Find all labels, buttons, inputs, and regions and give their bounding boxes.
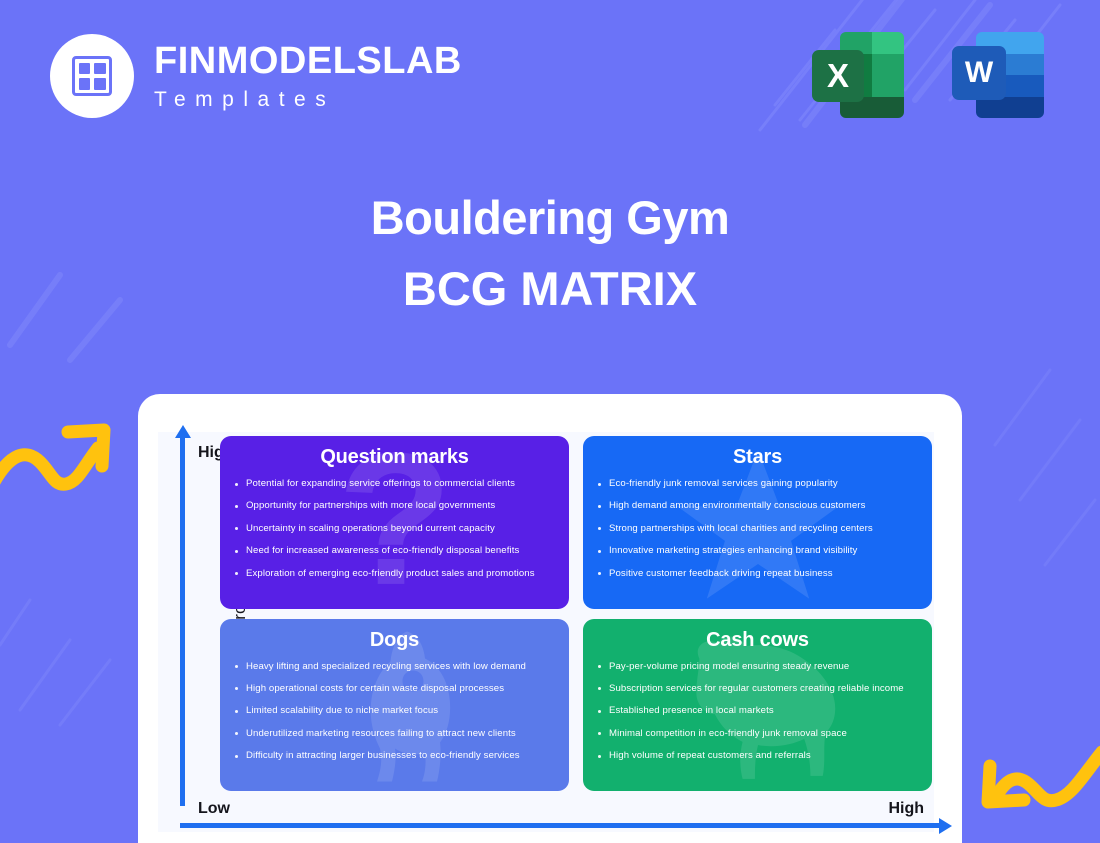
- quadrant-bullet-list: Heavy lifting and specialized recycling …: [234, 661, 555, 763]
- quadrant-title: Cash cows: [597, 629, 918, 652]
- list-item: Opportunity for partnerships with more l…: [234, 500, 555, 512]
- brand-name: FINMODELSLAB: [154, 42, 462, 80]
- bcg-matrix-card: High Low Market growth Market share High…: [138, 394, 962, 843]
- list-item: High demand among environmentally consci…: [597, 500, 918, 512]
- page-title-block: Bouldering Gym BCG MATRIX: [0, 190, 1100, 317]
- file-format-badges: X W: [808, 26, 1048, 122]
- list-item: Positive customer feedback driving repea…: [597, 568, 918, 580]
- word-file-icon[interactable]: W: [952, 26, 1048, 122]
- brand-logo: FINMODELSLAB Templates: [50, 34, 462, 118]
- y-axis-low-label: Low: [198, 800, 230, 818]
- list-item: Minimal competition in eco-friendly junk…: [597, 728, 918, 740]
- quadrant-bullet-list: Potential for expanding service offering…: [234, 478, 555, 580]
- quadrant-title: Question marks: [234, 446, 555, 469]
- page-title: Bouldering Gym: [0, 190, 1100, 245]
- list-item: Heavy lifting and specialized recycling …: [234, 661, 555, 673]
- word-letter: W: [952, 46, 1006, 100]
- quadrant-title: Dogs: [234, 629, 555, 652]
- grid-squares-icon: [50, 34, 134, 118]
- excel-letter: X: [812, 50, 864, 102]
- brand-subtitle: Templates: [154, 89, 462, 110]
- quadrant-title: Stars: [597, 446, 918, 469]
- list-item: Eco-friendly junk removal services gaini…: [597, 478, 918, 490]
- list-item: High volume of repeat customers and refe…: [597, 750, 918, 762]
- quadrant-bullet-list: Eco-friendly junk removal services gaini…: [597, 478, 918, 580]
- x-axis-high-label: High: [888, 800, 924, 818]
- list-item: Uncertainty in scaling operations beyond…: [234, 523, 555, 535]
- quadrant-bullet-list: Pay-per-volume pricing model ensuring st…: [597, 661, 918, 763]
- list-item: High operational costs for certain waste…: [234, 683, 555, 695]
- list-item: Need for increased awareness of eco-frie…: [234, 545, 555, 557]
- y-axis: [180, 436, 185, 806]
- list-item: Established presence in local markets: [597, 705, 918, 717]
- list-item: Strong partnerships with local charities…: [597, 523, 918, 535]
- x-axis: [180, 823, 940, 828]
- squiggle-arrow-down-left-icon: [976, 738, 1100, 830]
- list-item: Limited scalability due to niche market …: [234, 705, 555, 717]
- excel-file-icon[interactable]: X: [808, 26, 904, 122]
- list-item: Difficulty in attracting larger business…: [234, 750, 555, 762]
- list-item: Subscription services for regular custom…: [597, 683, 918, 695]
- list-item: Underutilized marketing resources failin…: [234, 728, 555, 740]
- quadrant-grid: ? Question marks Potential for expanding…: [220, 436, 932, 791]
- list-item: Innovative marketing strategies enhancin…: [597, 545, 918, 557]
- page-subtitle: BCG MATRIX: [0, 261, 1100, 316]
- quadrant-stars[interactable]: Stars Eco-friendly junk removal services…: [583, 436, 932, 609]
- quadrant-question-marks[interactable]: ? Question marks Potential for expanding…: [220, 436, 569, 609]
- list-item: Potential for expanding service offering…: [234, 478, 555, 490]
- quadrant-cash-cows[interactable]: Cash cows Pay-per-volume pricing model e…: [583, 619, 932, 792]
- list-item: Exploration of emerging eco-friendly pro…: [234, 568, 555, 580]
- matrix-plot-area: High Low Market growth Market share High…: [158, 432, 934, 832]
- page-header: FINMODELSLAB Templates X W: [0, 0, 1100, 150]
- quadrant-dogs[interactable]: Dogs Heavy lifting and specialized recyc…: [220, 619, 569, 792]
- list-item: Pay-per-volume pricing model ensuring st…: [597, 661, 918, 673]
